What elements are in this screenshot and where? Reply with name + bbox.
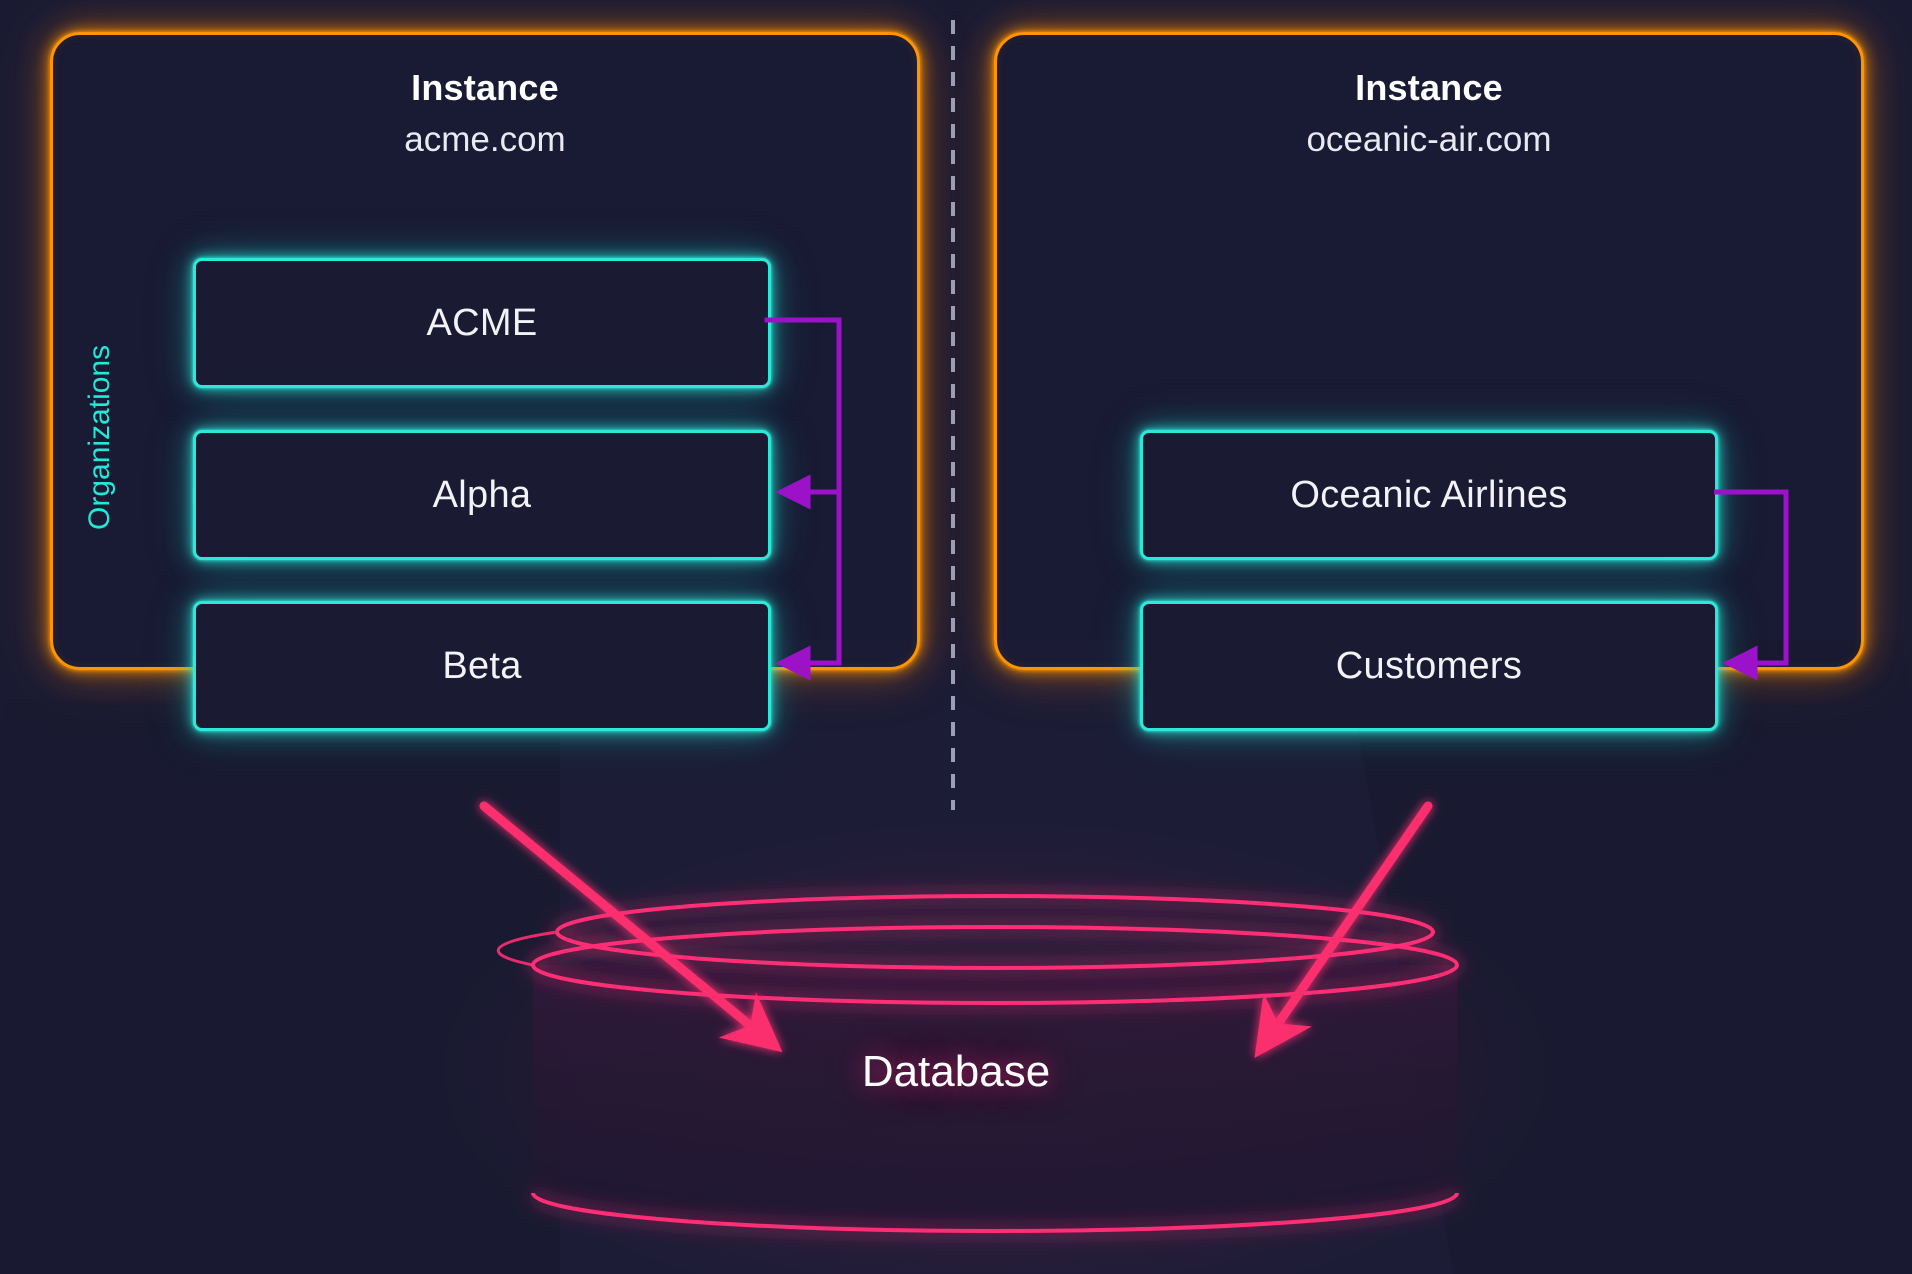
- connector-overlay: [0, 0, 1912, 1274]
- diagram-canvas: Instance acme.com Organizations ACME Alp…: [0, 0, 1912, 1274]
- link-oceanic-to-customers: [1714, 492, 1786, 663]
- link-oceanic-instance-to-database: [1260, 806, 1428, 1050]
- link-acme-to-alpha-and-beta: [767, 320, 839, 663]
- link-acme-instance-to-database: [484, 806, 775, 1046]
